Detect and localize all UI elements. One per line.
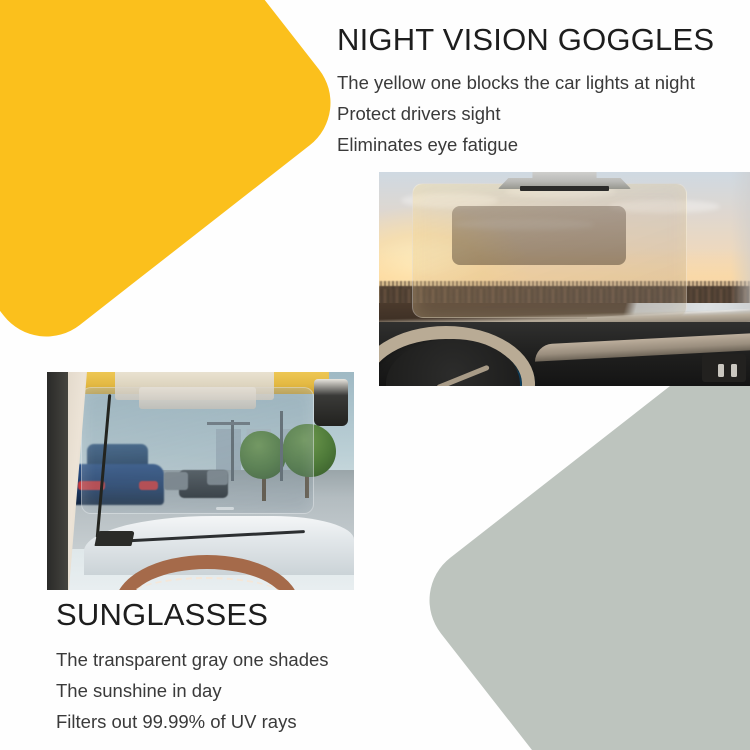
visor-tinted-window bbox=[452, 206, 626, 264]
sunglasses-bullet-1: The transparent gray one shades bbox=[56, 644, 396, 675]
rearview-mirror-mount bbox=[314, 379, 348, 427]
night-vision-bullet-3: Eliminates eye fatigue bbox=[337, 129, 732, 160]
night-vision-heading: NIGHT VISION GOGGLES bbox=[337, 23, 732, 58]
sunglasses-text-block: SUNGLASSES The transparent gray one shad… bbox=[56, 598, 396, 737]
sunglasses-bullet-3: Filters out 99.99% of UV rays bbox=[56, 706, 396, 737]
visor-bracket-bar bbox=[520, 186, 609, 191]
product-infographic: NIGHT VISION GOGGLES The yellow one bloc… bbox=[0, 0, 750, 750]
day-driving-photo bbox=[47, 372, 354, 590]
visor-flap-lower bbox=[139, 387, 256, 409]
night-vision-bullets: The yellow one blocks the car lights at … bbox=[337, 67, 732, 160]
night-vision-text-block: NIGHT VISION GOGGLES The yellow one bloc… bbox=[337, 23, 732, 160]
gray-lens-shape bbox=[408, 345, 750, 750]
dash-control-pod bbox=[702, 354, 747, 382]
sunglasses-bullets: The transparent gray one shades The suns… bbox=[56, 644, 396, 737]
night-driving-photo bbox=[379, 172, 750, 386]
dash-button bbox=[718, 364, 724, 377]
yellow-lens-shape bbox=[0, 0, 352, 358]
night-vision-bullet-2: Protect drivers sight bbox=[337, 98, 732, 129]
night-visor-panel bbox=[412, 183, 687, 318]
a-pillar bbox=[731, 172, 750, 330]
dashcam-base bbox=[94, 531, 134, 546]
dash-button bbox=[731, 364, 737, 377]
sunglasses-bullet-2: The sunshine in day bbox=[56, 675, 396, 706]
night-vision-bullet-1: The yellow one blocks the car lights at … bbox=[337, 67, 732, 98]
day-scene bbox=[47, 372, 354, 590]
night-scene bbox=[379, 172, 750, 386]
door-frame bbox=[47, 372, 68, 590]
sunglasses-heading: SUNGLASSES bbox=[56, 598, 396, 633]
